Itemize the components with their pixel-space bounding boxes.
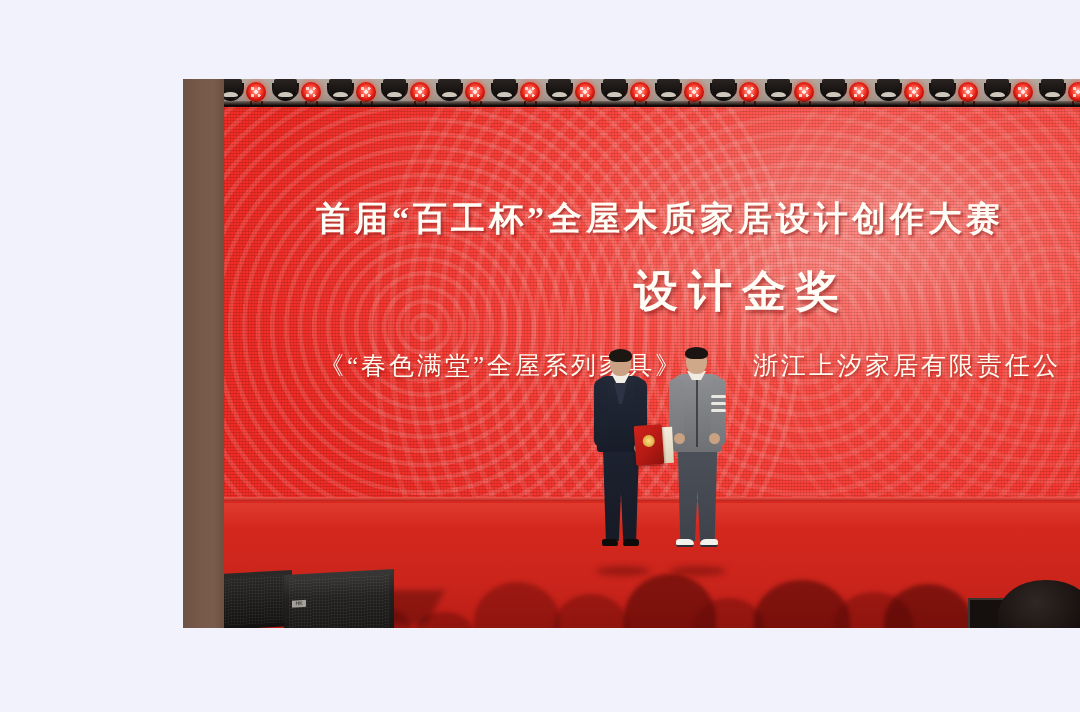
par-can-light-icon xyxy=(465,82,485,102)
par-can-light-icon xyxy=(1068,82,1080,102)
moving-head-yoke-icon xyxy=(765,83,792,99)
audience-silhouette xyxy=(554,594,628,628)
moving-head-yoke-icon xyxy=(546,83,573,99)
recipient-right-sneaker xyxy=(700,539,718,547)
recipient-floor-shadow xyxy=(670,566,726,576)
moving-head-yoke-icon xyxy=(491,83,518,99)
par-can-light-icon xyxy=(356,82,376,102)
par-can-light-icon xyxy=(520,82,540,102)
presenter-left-shoe xyxy=(602,539,618,546)
par-can-light-icon xyxy=(794,82,814,102)
brown-wall-column xyxy=(183,79,224,628)
moving-head-yoke-icon xyxy=(601,83,628,99)
stage-monitor-speaker-right: HK xyxy=(284,569,394,628)
award-title: 设计金奖 xyxy=(314,262,1080,321)
par-can-light-icon xyxy=(849,82,869,102)
moving-head-yoke-icon xyxy=(381,83,408,99)
moving-head-yoke-icon xyxy=(327,83,354,99)
award-recipient xyxy=(664,349,730,551)
presenter-hair xyxy=(609,349,632,362)
competition-headline: 首届“百工杯”全屋木质家居设计创作大赛 xyxy=(232,196,1080,242)
par-can-light-icon xyxy=(684,82,704,102)
moving-head-yoke-icon xyxy=(820,83,847,99)
moving-head-yoke-icon xyxy=(984,83,1011,99)
recipient-jacket-zipper xyxy=(696,379,698,447)
recipient-hair xyxy=(685,347,708,359)
presenter-left-arm xyxy=(594,379,608,447)
par-can-light-icon xyxy=(575,82,595,102)
audience-silhouette xyxy=(624,574,716,628)
par-can-light-icon xyxy=(1013,82,1033,102)
speaker-brand-badge: HK xyxy=(292,600,306,608)
presenter-right-shoe xyxy=(623,539,639,546)
recipient-left-sneaker xyxy=(676,539,694,547)
moving-head-yoke-icon xyxy=(436,83,463,99)
recipient-left-hand xyxy=(674,433,685,444)
recipient-sleeve-stripe xyxy=(711,409,726,412)
recipient-sleeve-stripe xyxy=(711,402,726,405)
audience-silhouette xyxy=(694,598,764,628)
certificate-gold-seal-icon xyxy=(642,435,655,448)
moving-head-yoke-icon xyxy=(224,83,244,99)
par-can-light-icon xyxy=(630,82,650,102)
stage-edge-lip xyxy=(224,497,1080,501)
moving-head-yoke-icon xyxy=(929,83,956,99)
par-can-light-icon xyxy=(410,82,430,102)
moving-head-yoke-icon xyxy=(875,83,902,99)
presenter-legs xyxy=(603,449,639,541)
recipient-right-hand xyxy=(709,433,720,444)
audience-silhouette xyxy=(754,580,850,628)
ceremony-photograph: 首届“百工杯”全屋木质家居设计创作大赛 设计金奖 《“春色满堂”全屋系列家具》 … xyxy=(183,79,1080,628)
par-can-light-icon xyxy=(246,82,266,102)
audience-silhouette xyxy=(834,592,914,628)
presenter-floor-shadow xyxy=(596,566,650,576)
moving-head-yoke-icon xyxy=(272,83,299,99)
red-stage-floor: HK xyxy=(224,497,1080,628)
stage-monitor-speaker-left xyxy=(224,570,292,628)
recipient-sleeve-stripe xyxy=(711,395,726,398)
page-root: 首届“百工杯”全屋木质家居设计创作大赛 设计金奖 《“春色满堂”全屋系列家具》 … xyxy=(0,0,1080,712)
par-can-light-icon xyxy=(301,82,321,102)
lighting-truss xyxy=(224,79,1080,108)
par-can-light-icon xyxy=(904,82,924,102)
moving-head-yoke-icon xyxy=(1039,83,1066,99)
par-can-light-icon xyxy=(739,82,759,102)
stage-scene: 首届“百工杯”全屋木质家居设计创作大赛 设计金奖 《“春色满堂”全屋系列家具》 … xyxy=(224,79,1080,628)
audience-silhouette xyxy=(884,584,972,628)
speaker-grille xyxy=(225,574,287,625)
moving-head-yoke-icon xyxy=(710,83,737,99)
floor-sheen xyxy=(224,503,1080,529)
entry-company-name: 浙江上汐家居有限责任公 xyxy=(753,349,1061,382)
recipient-trousers xyxy=(677,449,718,541)
audience-silhouette xyxy=(474,582,560,628)
par-can-light-icon xyxy=(958,82,978,102)
award-certificate xyxy=(634,424,665,466)
moving-head-yoke-icon xyxy=(655,83,682,99)
